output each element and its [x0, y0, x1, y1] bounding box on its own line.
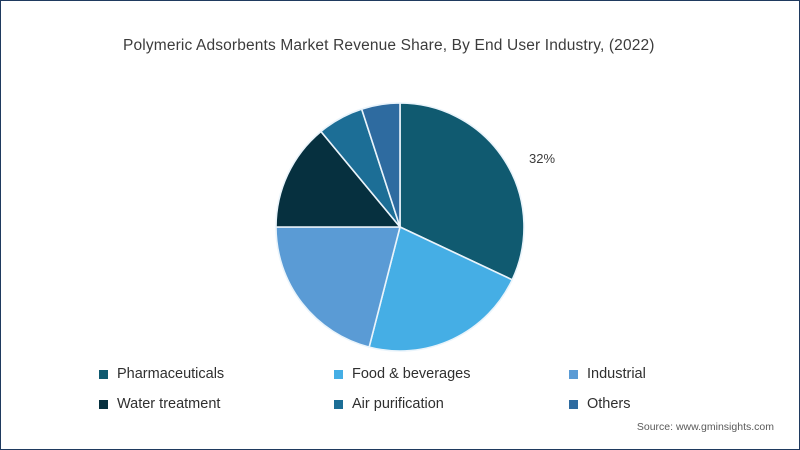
legend-item[interactable]: Food & beverages: [334, 367, 569, 382]
legend-swatch-icon: [569, 370, 578, 379]
legend-item-label: Others: [587, 397, 631, 412]
legend-item-label: Pharmaceuticals: [117, 367, 224, 382]
legend-swatch-icon: [334, 400, 343, 409]
legend-item[interactable]: Others: [569, 397, 659, 412]
legend-item-label: Industrial: [587, 367, 646, 382]
chart-card: Polymeric Adsorbents Market Revenue Shar…: [0, 0, 800, 450]
legend-item[interactable]: Air purification: [334, 397, 569, 412]
pie-data-label-pharmaceuticals: 32%: [529, 151, 555, 166]
legend-item-label: Food & beverages: [352, 367, 471, 382]
legend-item[interactable]: Industrial: [569, 367, 659, 382]
legend-swatch-icon: [569, 400, 578, 409]
source-attribution: Source: www.gminsights.com: [637, 421, 774, 433]
legend-item[interactable]: Water treatment: [99, 397, 334, 412]
legend-item-label: Water treatment: [117, 397, 220, 412]
legend-item-label: Air purification: [352, 397, 444, 412]
chart-title: Polymeric Adsorbents Market Revenue Shar…: [123, 37, 655, 55]
pie-chart-svg: [275, 102, 525, 352]
legend-swatch-icon: [99, 370, 108, 379]
chart-legend: PharmaceuticalsFood & beveragesIndustria…: [99, 359, 659, 419]
pie-chart: [275, 102, 525, 352]
legend-item[interactable]: Pharmaceuticals: [99, 367, 334, 382]
pie-slice-group: [276, 103, 524, 351]
legend-swatch-icon: [334, 370, 343, 379]
legend-swatch-icon: [99, 400, 108, 409]
